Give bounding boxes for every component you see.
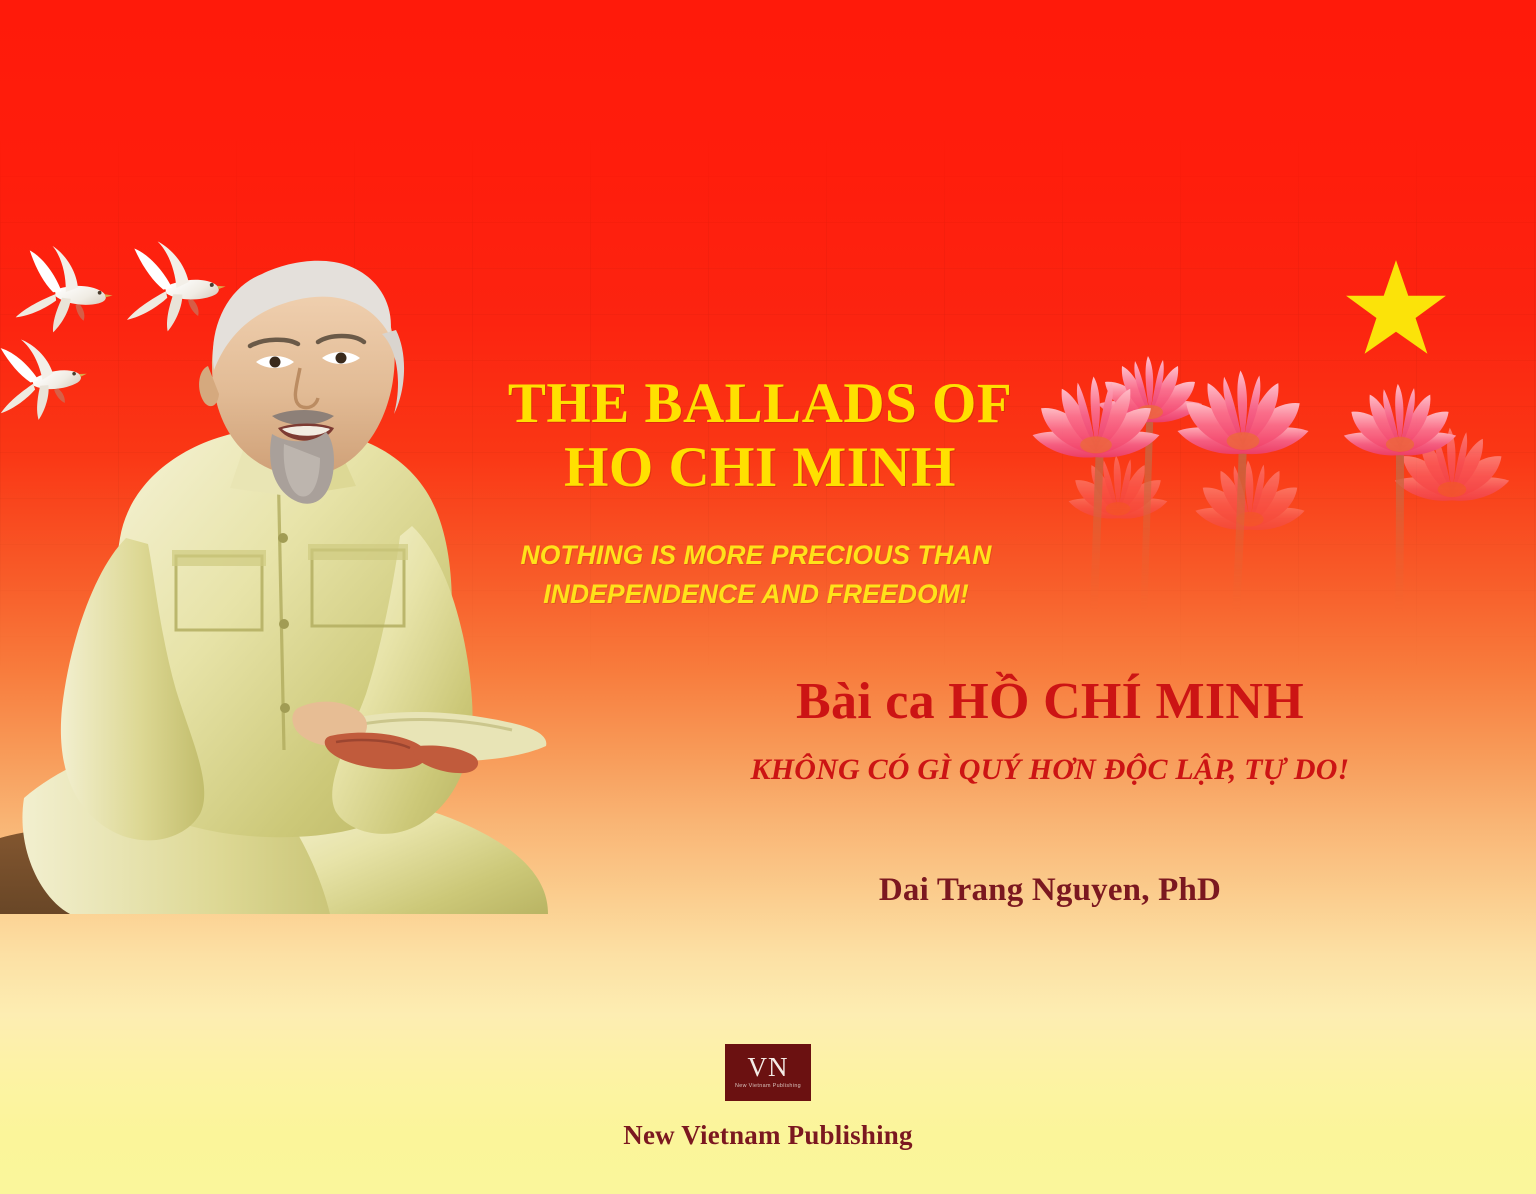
subtitle-english-line2: INDEPENDENCE AND FREEDOM! <box>466 575 1046 614</box>
subtitle-english: NOTHING IS MORE PRECIOUS THAN INDEPENDEN… <box>466 536 1046 614</box>
book-cover: THE BALLADS OF HO CHI MINH NOTHING IS MO… <box>0 0 1536 1194</box>
title-english-line1: THE BALLADS OF <box>508 372 1012 435</box>
title-english: THE BALLADS OF HO CHI MINH <box>470 372 1050 500</box>
publisher-logo-initials: VN <box>748 1054 789 1081</box>
lotus-flowers-illustration <box>1000 290 1536 620</box>
doves-illustration <box>0 232 300 442</box>
author-name: Dai Trang Nguyen, PhD <box>700 872 1400 909</box>
title-vietnamese: Bài ca HỒ CHÍ MINH <box>700 673 1400 730</box>
publisher-logo: VN New Vietnam Publishing <box>725 1044 811 1101</box>
title-english-line2: HO CHI MINH <box>470 436 1050 500</box>
subtitle-english-line1: NOTHING IS MORE PRECIOUS THAN <box>520 540 991 570</box>
publisher-logo-caption: New Vietnam Publishing <box>735 1084 801 1089</box>
publisher-block: VN New Vietnam Publishing New Vietnam Pu… <box>568 1044 968 1151</box>
publisher-name: New Vietnam Publishing <box>568 1120 968 1151</box>
subtitle-vietnamese: KHÔNG CÓ GÌ QUÝ HƠN ĐỘC LẬP, TỰ DO! <box>700 752 1400 788</box>
yellow-star-icon <box>1344 258 1448 358</box>
